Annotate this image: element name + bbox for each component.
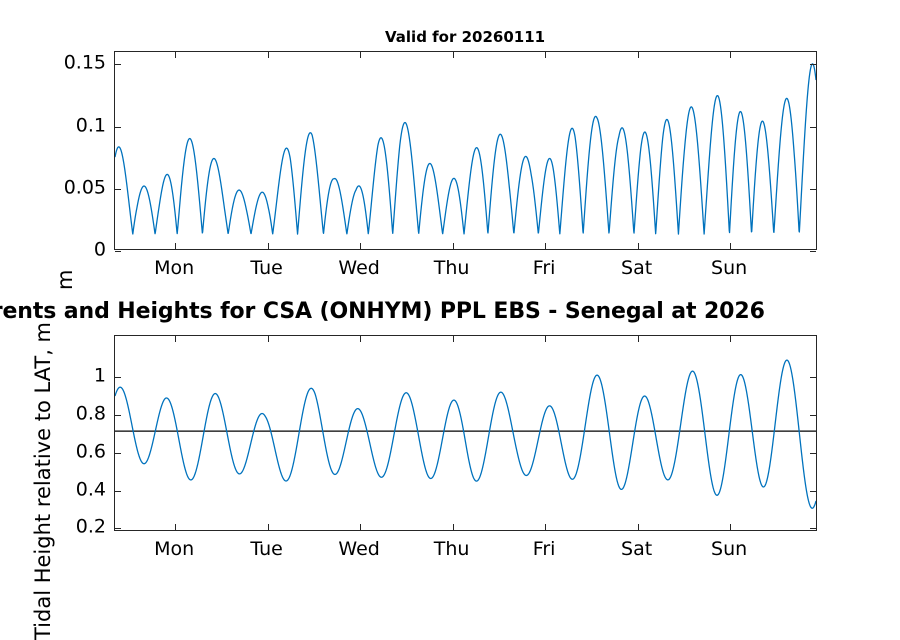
- xtick-label-bottom-Sat: Sat: [621, 540, 652, 559]
- tidal-height-axes: [114, 335, 817, 531]
- ytick-h-right-0.8: [810, 415, 816, 416]
- xtick-Wed: [360, 243, 361, 249]
- xtick-h-top-Mon: [175, 336, 176, 342]
- xtick-label-bottom-Tue: Tue: [250, 540, 282, 559]
- xtick-top-Tue: [268, 52, 269, 58]
- ytick-h-right-0.6: [810, 453, 816, 454]
- ytick-label-h-0.8: 0.8: [76, 405, 106, 424]
- surface-tidal-current-speed-axes: [114, 51, 817, 250]
- xtick-top-Wed: [360, 52, 361, 58]
- xtick-label-bottom-Sun: Sun: [711, 540, 747, 559]
- xtick-top-Mon: [175, 52, 176, 58]
- ytick-label-0: 0: [94, 241, 106, 260]
- xtick-h-Mon: [175, 524, 176, 530]
- ytick-0: [115, 251, 121, 252]
- ytick-right-0.1: [810, 127, 816, 128]
- xtick-label-top-Wed: Wed: [338, 259, 379, 278]
- xtick-h-top-Sat: [638, 336, 639, 342]
- xtick-h-Thu: [453, 524, 454, 530]
- xtick-label-top-Sat: Sat: [621, 259, 652, 278]
- ytick-label-h-0.6: 0.6: [76, 442, 106, 461]
- ytick-h-0.2: [115, 528, 121, 529]
- figure-main-title: Surface Tidal Currents and Heights for C…: [0, 299, 765, 324]
- ytick-label-0.05: 0.05: [64, 178, 106, 197]
- xtick-label-top-Fri: Fri: [533, 259, 556, 278]
- plot-subtitle: Valid for 20260111: [385, 28, 545, 46]
- current-speed-plot-line: [115, 52, 816, 249]
- ytick-0.05: [115, 189, 121, 190]
- ytick-h-right-0.2: [810, 528, 816, 529]
- tidal-height-plot-line: [115, 336, 816, 530]
- xtick-top-Fri: [545, 52, 546, 58]
- xtick-Tue: [268, 243, 269, 249]
- ytick-label-h-0.4: 0.4: [76, 480, 106, 499]
- figure-canvas: Valid for 20260111 Surface tidal current…: [0, 0, 900, 600]
- xtick-h-Fri: [545, 524, 546, 530]
- ytick-label-h-1: 1: [94, 367, 106, 386]
- ytick-label-h-0.2: 0.2: [76, 518, 106, 537]
- xtick-Sun: [730, 243, 731, 249]
- xtick-h-top-Tue: [268, 336, 269, 342]
- xtick-h-top-Sun: [730, 336, 731, 342]
- ytick-right-0.15: [810, 64, 816, 65]
- xtick-Fri: [545, 243, 546, 249]
- xtick-Mon: [175, 243, 176, 249]
- ytick-h-0.4: [115, 491, 121, 492]
- xtick-label-top-Sun: Sun: [711, 259, 747, 278]
- ytick-label-0.15: 0.15: [64, 54, 106, 73]
- ylabel-current-speed-units: m: [55, 270, 76, 290]
- xtick-Thu: [453, 243, 454, 249]
- xtick-top-Thu: [453, 52, 454, 58]
- xtick-h-top-Fri: [545, 336, 546, 342]
- xtick-h-Wed: [360, 524, 361, 530]
- ytick-label-0.1: 0.1: [76, 116, 106, 135]
- ytick-h-0.8: [115, 415, 121, 416]
- ytick-h-right-0.4: [810, 491, 816, 492]
- xtick-h-top-Wed: [360, 336, 361, 342]
- xtick-label-bottom-Fri: Fri: [533, 540, 556, 559]
- ytick-0.1: [115, 127, 121, 128]
- xtick-h-top-Thu: [453, 336, 454, 342]
- xtick-label-bottom-Mon: Mon: [154, 540, 194, 559]
- xtick-top-Sat: [638, 52, 639, 58]
- xtick-h-Sun: [730, 524, 731, 530]
- xtick-h-Sat: [638, 524, 639, 530]
- xtick-h-Tue: [268, 524, 269, 530]
- xtick-label-top-Mon: Mon: [154, 259, 194, 278]
- ytick-right-0: [810, 251, 816, 252]
- xtick-Sat: [638, 243, 639, 249]
- xtick-label-top-Tue: Tue: [250, 259, 282, 278]
- ylabel-tidal-height: Tidal Height relative to LAT, m: [33, 322, 54, 640]
- xtick-label-bottom-Wed: Wed: [338, 540, 379, 559]
- xtick-label-bottom-Thu: Thu: [434, 540, 470, 559]
- ytick-0.15: [115, 64, 121, 65]
- xtick-top-Sun: [730, 52, 731, 58]
- ytick-h-0.6: [115, 453, 121, 454]
- ytick-h-right-1: [810, 377, 816, 378]
- xtick-label-top-Thu: Thu: [434, 259, 470, 278]
- ytick-right-0.05: [810, 189, 816, 190]
- ytick-h-1: [115, 377, 121, 378]
